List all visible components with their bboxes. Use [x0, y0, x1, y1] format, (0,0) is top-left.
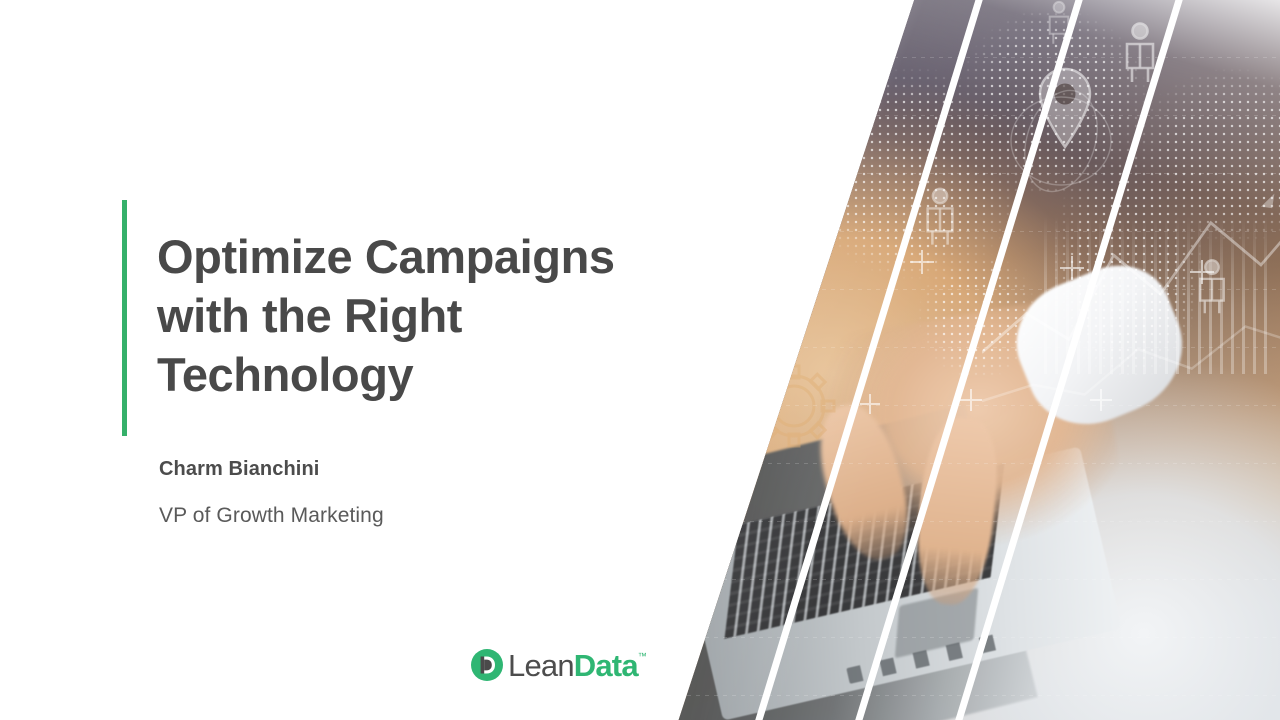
- title-line-1: Optimize Campaigns: [157, 230, 615, 283]
- green-accent-bar: [122, 200, 127, 436]
- speaker-name: Charm Bianchini: [159, 458, 319, 481]
- page-title: Optimize Campaignswith the RightTechnolo…: [157, 228, 757, 405]
- leandata-logo: LeanData™: [470, 648, 646, 682]
- title-slide: Optimize Campaignswith the RightTechnolo…: [0, 0, 1280, 720]
- logo-trademark: ™: [638, 652, 646, 661]
- title-line-3: Technology: [157, 348, 413, 401]
- leandata-wordmark: LeanData™: [508, 650, 646, 681]
- title-line-2: with the Right: [157, 289, 462, 342]
- speaker-role: VP of Growth Marketing: [159, 504, 384, 528]
- leandata-mark-icon: [470, 648, 504, 682]
- logo-text-lean: Lean: [508, 650, 574, 681]
- logo-text-data: Data: [574, 650, 638, 681]
